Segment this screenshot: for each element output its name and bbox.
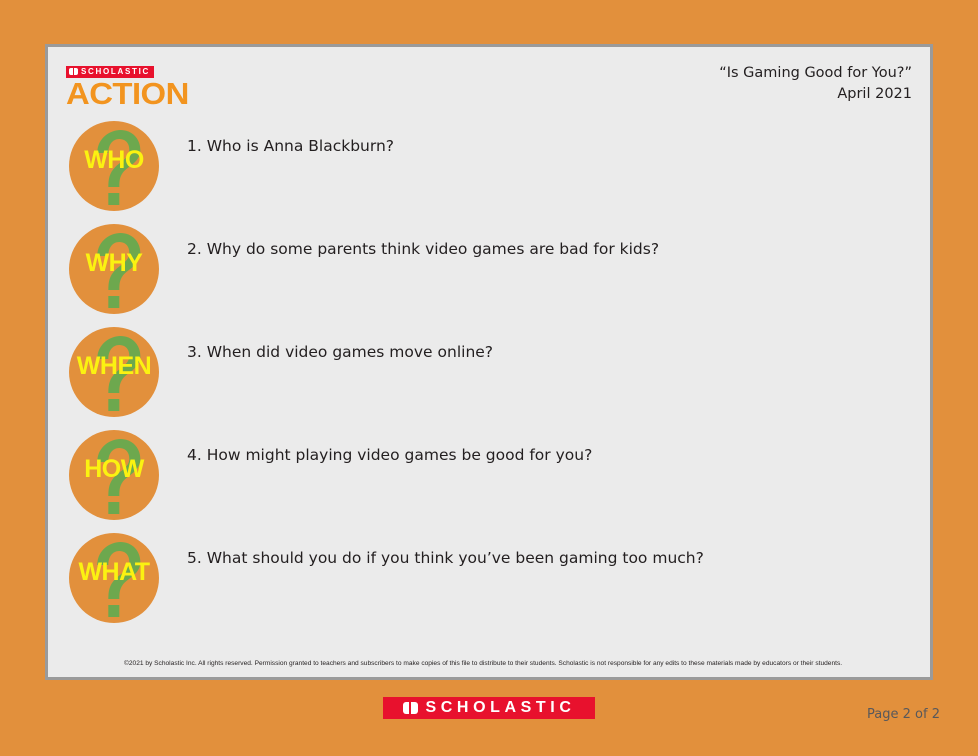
question-mark-circle-icon: WHY bbox=[69, 224, 159, 314]
question-text: 1. Who is Anna Blackburn? bbox=[187, 136, 906, 157]
page-number: Page 2 of 2 bbox=[867, 707, 940, 722]
question-mark-circle-icon: WHAT bbox=[69, 533, 159, 623]
issue-date: April 2021 bbox=[719, 84, 912, 105]
header-meta: “Is Gaming Good for You?” April 2021 bbox=[719, 63, 912, 104]
question-mark-circle-icon: WHO bbox=[69, 121, 159, 211]
sheet-header: SCHOLASTIC ACTION “Is Gaming Good for Yo… bbox=[48, 47, 930, 109]
question-mark-circle-icon: HOW bbox=[69, 430, 159, 520]
question-row: WHAT 5. What should you do if you think … bbox=[48, 533, 930, 636]
question-row: WHEN 3. When did video games move online… bbox=[48, 327, 930, 430]
question-text: 4. How might playing video games be good… bbox=[187, 445, 906, 466]
question-row: WHO 1. Who is Anna Blackburn? bbox=[48, 121, 930, 224]
question-text: 3. When did video games move online? bbox=[187, 342, 906, 363]
question-list: WHO 1. Who is Anna Blackburn? WHY 2. Why… bbox=[48, 121, 930, 636]
question-row: HOW 4. How might playing video games be … bbox=[48, 430, 930, 533]
question-text: 5. What should you do if you think you’v… bbox=[187, 548, 906, 569]
open-book-icon bbox=[403, 702, 418, 714]
worksheet-card: SCHOLASTIC ACTION “Is Gaming Good for Yo… bbox=[45, 44, 933, 680]
question-word-label: WHEN bbox=[69, 354, 159, 378]
copyright-fine-print: ©2021 by Scholastic Inc. All rights rese… bbox=[124, 659, 890, 669]
scholastic-footer-label: SCHOLASTIC bbox=[424, 699, 576, 717]
article-title: “Is Gaming Good for You?” bbox=[719, 63, 912, 84]
question-mark-circle-icon: WHEN bbox=[69, 327, 159, 417]
question-word-label: WHO bbox=[69, 148, 159, 172]
scholastic-action-logo: SCHOLASTIC ACTION bbox=[66, 60, 246, 111]
scholastic-tag-label: SCHOLASTIC bbox=[81, 68, 150, 76]
open-book-icon bbox=[69, 68, 78, 75]
question-text: 2. Why do some parents think video games… bbox=[187, 239, 906, 260]
question-word-label: HOW bbox=[69, 457, 159, 481]
scholastic-footer-logo: SCHOLASTIC bbox=[383, 697, 595, 719]
question-word-label: WHAT bbox=[69, 560, 159, 584]
action-wordmark: ACTION bbox=[66, 78, 257, 111]
question-word-label: WHY bbox=[69, 251, 159, 275]
question-row: WHY 2. Why do some parents think video g… bbox=[48, 224, 930, 327]
